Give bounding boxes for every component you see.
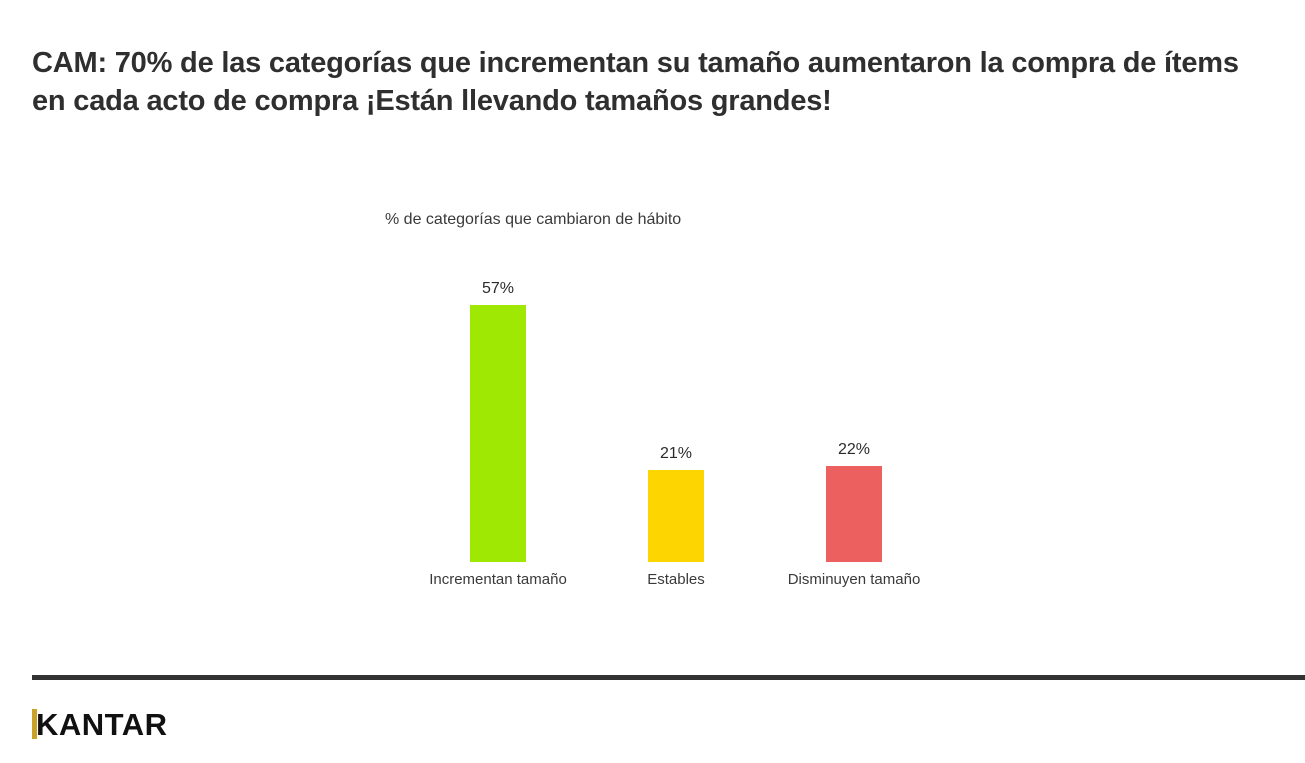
bar-group-disminuyen-tamano: 22% Disminuyen tamaño <box>766 262 942 562</box>
bar-category-label-disminuyen-tamano: Disminuyen tamaño <box>766 571 942 588</box>
chart-plot-area: 57% Incrementan tamaño 21% Estables 22% … <box>410 262 970 562</box>
kantar-wordmark: KANTAR <box>36 709 168 740</box>
bar-category-label-estables: Estables <box>588 571 764 588</box>
bar-value-label: 22% <box>766 442 942 458</box>
bar-group-incrementan-tamano: 57% Incrementan tamaño <box>410 262 586 562</box>
bar-value-label: 21% <box>588 446 764 462</box>
bar-rect-incrementan-tamano[interactable] <box>470 305 526 562</box>
chart-title: % de categorías que cambiaron de hábito <box>385 211 681 229</box>
bar-chart: % de categorías que cambiaron de hábito … <box>0 0 1305 680</box>
kantar-logo: KANTAR <box>32 708 168 740</box>
footer-divider <box>32 675 1305 680</box>
bar-value-label: 57% <box>410 281 586 297</box>
bar-category-label-incrementan-tamano: Incrementan tamaño <box>410 571 586 588</box>
bar-rect-estables[interactable] <box>648 470 704 562</box>
bar-rect-disminuyen-tamano[interactable] <box>826 466 882 562</box>
bar-group-estables: 21% Estables <box>588 262 764 562</box>
